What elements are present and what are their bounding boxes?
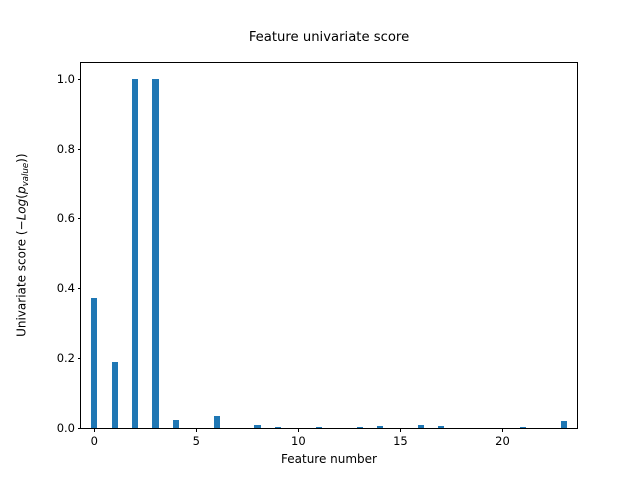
y-tick-label: 0.2 [57,351,75,365]
x-tick-mark [196,428,197,432]
ylabel-open-paren: ( [15,194,29,199]
bar [254,425,260,428]
bar [520,427,526,428]
x-tick-label: 0 [91,434,98,448]
ylabel-prefix: Univariate score ( [15,231,29,337]
x-tick-mark [94,428,95,432]
ylabel-p: p [15,187,29,195]
y-axis-label-text: Univariate score (−Log(pvalue)) [15,154,31,337]
bar [132,79,138,428]
x-tick-label: 5 [193,434,200,448]
ylabel-log: Log [15,199,29,221]
bar [173,420,179,428]
y-tick-label: 0.4 [57,281,75,295]
bar [438,426,444,428]
bar [561,421,567,428]
ylabel-minus: − [15,221,29,231]
x-tick-mark [502,428,503,432]
y-tick-label: 1.0 [57,72,75,86]
bar [152,79,158,428]
x-axis-label: Feature number [80,452,578,466]
bar [357,427,363,428]
bar [316,427,322,428]
x-tick-mark [298,428,299,432]
page-title: Feature univariate score [80,30,578,45]
bar [275,427,281,428]
y-axis-label: Univariate score (−Log(pvalue)) [14,62,32,429]
ylabel-close-paren: )) [15,154,29,163]
ylabel-subscript: value [21,163,31,187]
y-tick-mark [78,428,82,429]
x-tick-label: 15 [393,434,408,448]
plot-area: 0.00.20.40.60.81.0 05101520 [80,62,578,429]
matplotlib-figure: Feature univariate score Univariate scor… [0,0,640,480]
x-tick-label: 10 [291,434,306,448]
bar [91,298,97,428]
bar [214,416,220,428]
bar [112,362,118,428]
y-tick-label: 0.6 [57,211,75,225]
y-tick-label: 0.0 [57,421,75,435]
y-tick-label: 0.8 [57,142,75,156]
x-tick-mark [400,428,401,432]
x-tick-label: 20 [495,434,510,448]
bar [377,426,383,428]
bar-series [81,63,577,428]
bar [418,425,424,428]
